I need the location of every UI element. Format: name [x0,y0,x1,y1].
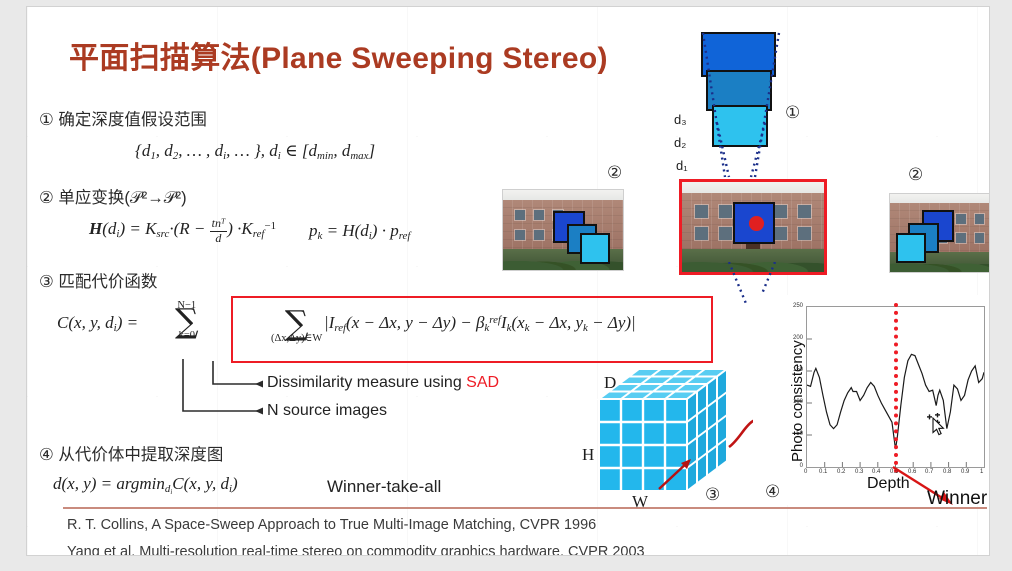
chart-x-tick: 0.3 [855,469,863,475]
annotation-dissimilarity-text: Dissimilarity measure using [267,374,466,391]
frustum-rays [687,27,797,197]
formula-homography: H(di) = Ksrc·(R − tnT d ) ·Kref−1 [89,217,276,246]
depth-label-d2: d₂ [674,135,686,150]
window [774,205,787,218]
step-marker-2-left: ② [607,163,622,183]
source-image-left [502,189,624,271]
window [956,233,965,243]
window [695,205,708,218]
chart-y-tick: 200 [789,335,803,341]
window [719,227,732,240]
cube-label-width: W [632,492,648,512]
formula-cost-body: |Iref(x − Δx, y − Δy) − βkrefIk(xk − Δx,… [324,313,636,334]
chart-y-tick: 50 [789,431,803,437]
page-title: 平面扫描算法(Plane Sweeping Stereo) [69,33,608,77]
annotation-n-source-images: N source images [267,402,387,420]
window [719,205,732,218]
window [534,210,544,220]
window [975,233,984,243]
step-marker-3: ③ [705,485,720,505]
chart-y-tick: 250 [789,303,803,309]
reference-divider [63,507,987,509]
annotation-sad-label: SAD [466,374,499,391]
bullet-step-2: ② 单应变换(𝒫²→𝒫²) [39,184,187,208]
slide-viewer: 平面扫描算法(Plane Sweeping Stereo) ① 确定深度值假设范… [0,0,1012,571]
window [695,227,708,240]
reference-item: Yang et al. Multi-resolution real-time s… [67,544,645,556]
depth-label-d3: d₃ [674,112,687,127]
formula-cost-lhs: C(x, y, di) = [57,313,138,334]
reference-image [679,179,827,275]
bullet-step-3: ③ 匹配代价函数 [39,268,157,292]
window [515,230,525,240]
warped-patch-d1 [580,233,610,263]
winner-take-all-label: Winner-take-all [327,477,441,497]
bullet-step-4: ④ 从代价体中提取深度图 [39,441,223,465]
step-marker-4: ④ [765,482,780,502]
bullet-step-1: ① 确定深度值假设范围 [39,106,207,130]
window [798,205,811,218]
chart-y-tick: 150 [789,367,803,373]
window [515,210,525,220]
window [975,214,984,224]
chart-y-tick: 100 [789,399,803,405]
source-image-right [889,193,990,273]
chart-x-tick: 0.1 [819,469,827,475]
window [798,227,811,240]
sum-window-limit: (Δx,Δy)∈W [271,334,322,345]
warped-patch-d1 [896,233,926,263]
formula-point-map: pk = H(di) · pref [309,221,410,242]
chart-y-tick: 0 [789,463,803,469]
cube-label-height: H [582,445,594,465]
annotation-dissimilarity: Dissimilarity measure using SAD [267,374,499,392]
formula-inner-sum: ∑ (Δx,Δy)∈W [271,310,322,344]
depth-label-d1: d₁ [676,158,688,173]
window [956,214,965,224]
chart-x-tick: 0.2 [837,469,845,475]
slide-canvas: 平面扫描算法(Plane Sweeping Stereo) ① 确定深度值假设范… [26,6,990,556]
window [534,230,544,240]
winner-depth-marker-line [894,303,898,473]
step-marker-1: ① [785,103,800,123]
formula-cost-outer-sum: N−1 ∑ k=0 [175,301,199,341]
chart-x-tick: 0 [804,469,807,475]
formula-depth-set: {d1, d2, … , di, … }, di ∈ [dmin, dmax] [135,141,375,162]
reference-item: R. T. Collins, A Space-Sweep Approach to… [67,517,596,533]
window [774,227,787,240]
cube-label-depth: D [604,373,616,393]
formula-argmin: d(x, y) = argmindiC(x, y, di) [53,474,238,496]
step-marker-2-right: ② [908,165,923,185]
chart-x-tick: 1 [980,469,983,475]
move-pointer-cursor [926,413,948,437]
winner-label: Winner [927,488,987,510]
